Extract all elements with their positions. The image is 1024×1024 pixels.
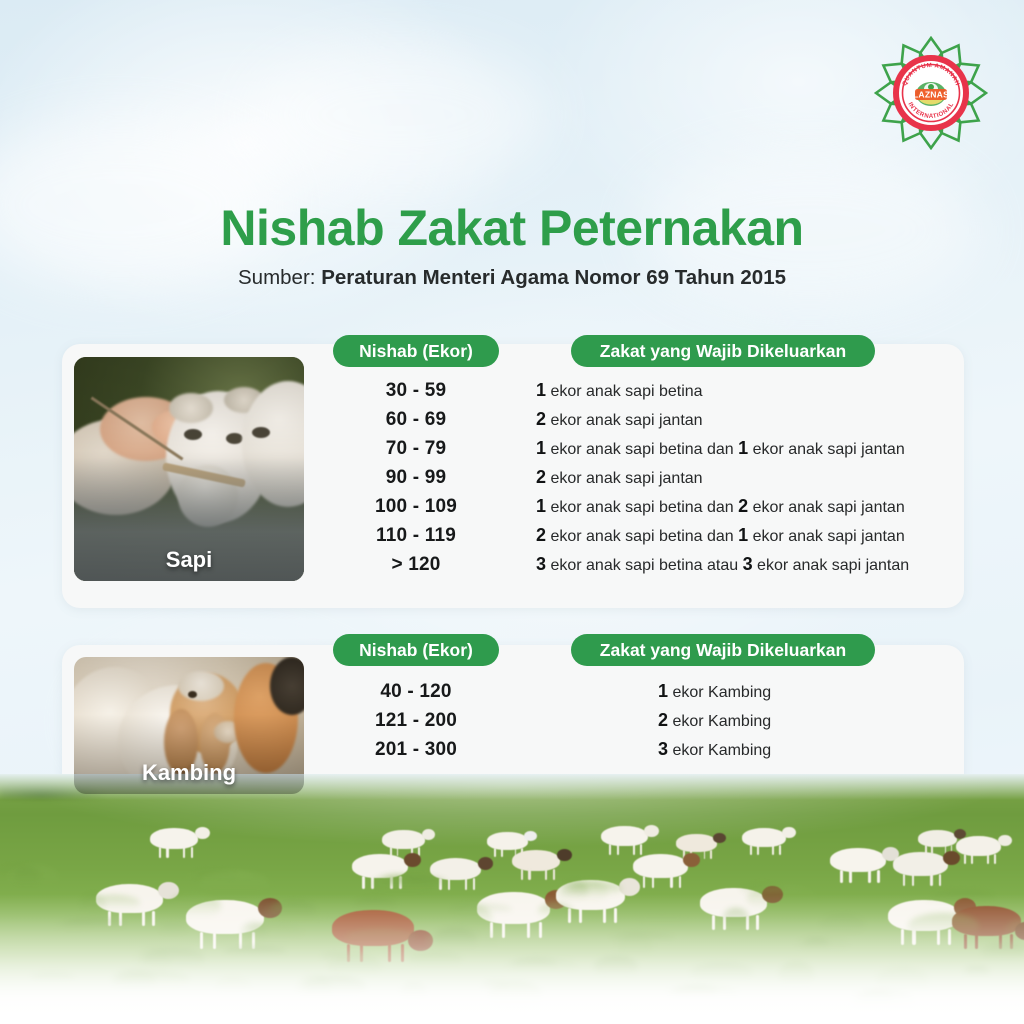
pasture-goat — [150, 828, 213, 865]
column-header-nishab-sapi: Nishab (Ekor) — [333, 335, 499, 367]
zakat-count: 2 — [738, 496, 748, 516]
table-rows-kambing: 40 - 1201 ekor Kambing121 - 2002 ekor Ka… — [318, 681, 964, 768]
grass-tuft — [384, 876, 446, 886]
zakat-count: 1 — [536, 380, 546, 400]
zakat-text: ekor Kambing — [668, 713, 771, 730]
table-row: > 1203 ekor anak sapi betina atau 3 ekor… — [318, 554, 964, 583]
source-label: Sumber: — [238, 266, 315, 289]
zakat-count: 1 — [658, 681, 668, 701]
infographic-poster: LAZNAS QUANTUM AMANAH INTERNATIONAL Nish… — [0, 0, 1024, 1024]
zakat-text: ekor Kambing — [668, 742, 771, 759]
nishab-value: 90 - 99 — [318, 467, 514, 489]
nishab-value: 30 - 59 — [318, 380, 514, 402]
zakat-text: ekor anak sapi betina dan — [546, 441, 738, 458]
pasture-goat — [893, 852, 964, 894]
nishab-value: 40 - 120 — [318, 681, 514, 703]
zakat-count: 3 — [536, 554, 546, 574]
zakat-value: 2 ekor anak sapi jantan — [514, 467, 703, 488]
zakat-text: ekor anak sapi betina — [546, 383, 703, 400]
source-line: Sumber: Peraturan Menteri Agama Nomor 69… — [0, 266, 1024, 291]
page-title: Nishab Zakat Peternakan — [0, 200, 1024, 256]
zakat-count: 3 — [658, 739, 668, 759]
zakat-text: ekor anak sapi betina atau — [546, 557, 743, 574]
zakat-value: 1 ekor anak sapi betina — [514, 380, 703, 401]
zakat-value: 1 ekor Kambing — [514, 681, 771, 702]
zakat-text: ekor anak sapi jantan — [546, 412, 703, 429]
nishab-value: 100 - 109 — [318, 496, 514, 518]
zakat-value: 1 ekor anak sapi betina dan 2 ekor anak … — [514, 496, 905, 517]
column-header-zakat-sapi: Zakat yang Wajib Dikeluarkan — [571, 335, 875, 367]
goat-label: Kambing — [74, 760, 304, 786]
zakat-count: 2 — [658, 710, 668, 730]
cattle-label: Sapi — [74, 547, 304, 573]
nishab-value: 70 - 79 — [318, 438, 514, 460]
column-header-zakat-kambing: Zakat yang Wajib Dikeluarkan — [571, 634, 875, 666]
zakat-value: 2 ekor anak sapi jantan — [514, 409, 703, 430]
nishab-value: 121 - 200 — [318, 710, 514, 732]
zakat-text: ekor anak sapi jantan — [748, 499, 905, 516]
zakat-text: ekor anak sapi betina dan — [546, 499, 738, 516]
zakat-count: 2 — [536, 525, 546, 545]
table-row: 40 - 1201 ekor Kambing — [318, 681, 964, 710]
zakat-text: ekor anak sapi jantan — [748, 441, 905, 458]
column-header-nishab-kambing: Nishab (Ekor) — [333, 634, 499, 666]
grass-tuft — [14, 866, 40, 886]
table-row: 201 - 3003 ekor Kambing — [318, 739, 964, 768]
table-row: 121 - 2002 ekor Kambing — [318, 710, 964, 739]
table-row: 70 - 791 ekor anak sapi betina dan 1 eko… — [318, 438, 964, 467]
zakat-text: ekor anak sapi jantan — [748, 528, 905, 545]
pasture-goat — [742, 828, 799, 862]
table-row: 60 - 692 ekor anak sapi jantan — [318, 409, 964, 438]
quantum-amanah-international-logo-icon: LAZNAS QUANTUM AMANAH INTERNATIONAL — [874, 36, 988, 150]
nishab-value: 201 - 300 — [318, 739, 514, 761]
zakat-value: 2 ekor Kambing — [514, 710, 771, 731]
goat-photo: Kambing — [74, 657, 304, 794]
zakat-value: 3 ekor anak sapi betina atau 3 ekor anak… — [514, 554, 909, 575]
zakat-text: ekor anak sapi betina dan — [546, 528, 738, 545]
zakat-text: ekor Kambing — [668, 684, 771, 701]
zakat-count: 1 — [536, 496, 546, 516]
nishab-value: > 120 — [318, 554, 514, 576]
zakat-value: 1 ekor anak sapi betina dan 1 ekor anak … — [514, 438, 905, 459]
goat-herd-pasture-photo — [0, 774, 1024, 1024]
table-row: 30 - 591 ekor anak sapi betina — [318, 380, 964, 409]
source-value: Peraturan Menteri Agama Nomor 69 Tahun 2… — [321, 266, 786, 289]
zakat-count: 2 — [536, 409, 546, 429]
cloud-decoration — [250, 40, 550, 190]
zakat-text: ekor anak sapi jantan — [546, 470, 703, 487]
svg-text:LAZNAS: LAZNAS — [913, 90, 949, 100]
zakat-text: ekor anak sapi jantan — [753, 557, 910, 574]
cattle-photo: Sapi — [74, 357, 304, 581]
pasture-goat — [956, 836, 1015, 871]
zakat-count: 1 — [738, 438, 748, 458]
table-row: 100 - 1091 ekor anak sapi betina dan 2 e… — [318, 496, 964, 525]
zakat-count: 3 — [743, 554, 753, 574]
nishab-value: 60 - 69 — [318, 409, 514, 431]
zakat-count: 1 — [738, 525, 748, 545]
zakat-value: 3 ekor Kambing — [514, 739, 771, 760]
grass-tuft — [199, 871, 270, 896]
table-rows-sapi: 30 - 591 ekor anak sapi betina60 - 692 e… — [318, 380, 964, 583]
table-row: 90 - 992 ekor anak sapi jantan — [318, 467, 964, 496]
zakat-count: 2 — [536, 467, 546, 487]
zakat-value: 2 ekor anak sapi betina dan 1 ekor anak … — [514, 525, 905, 546]
zakat-count: 1 — [536, 438, 546, 458]
table-row: 110 - 1192 ekor anak sapi betina dan 1 e… — [318, 525, 964, 554]
nishab-value: 110 - 119 — [318, 525, 514, 547]
